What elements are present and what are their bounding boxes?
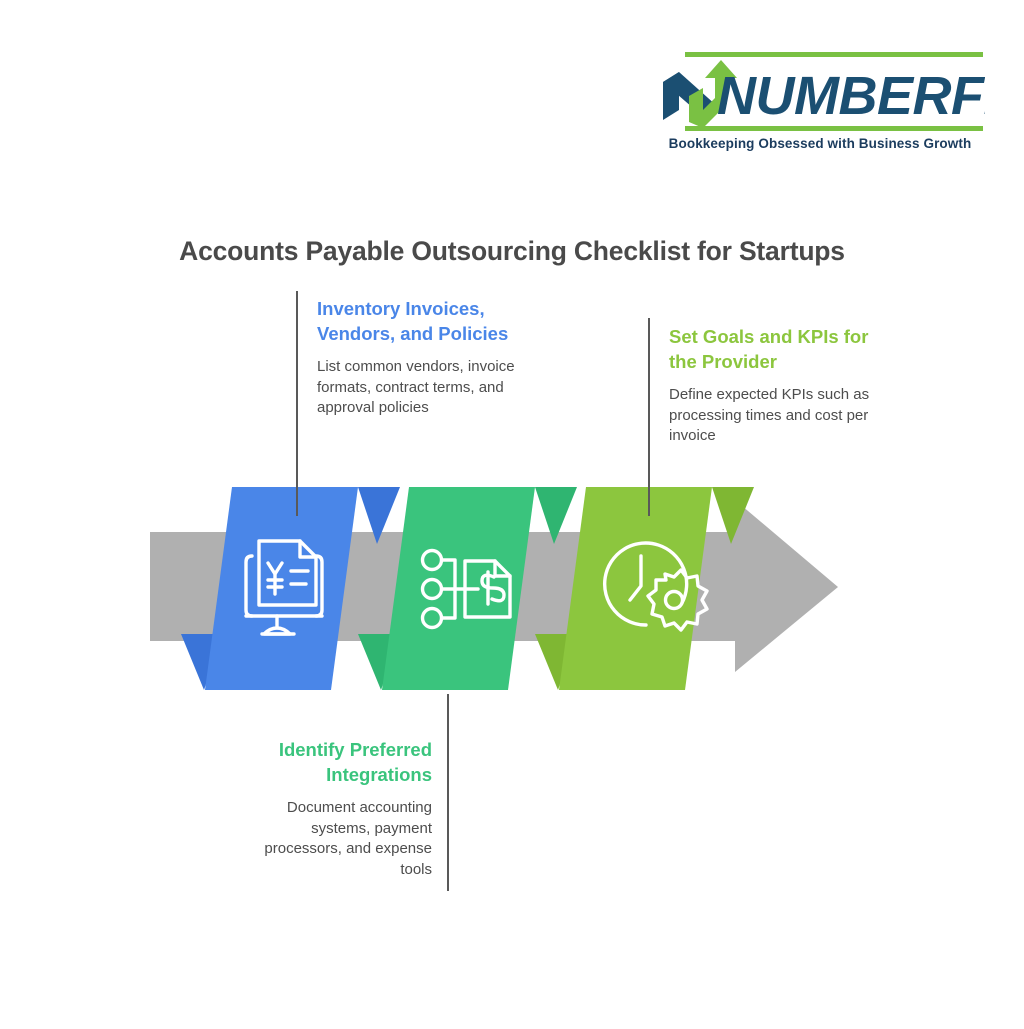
callout-step-3-heading: Set Goals and KPIs for the Provider	[669, 324, 875, 374]
callout-step-2-heading: Identify Preferred Integrations	[240, 737, 432, 787]
callout-step-3-body: Define expected KPIs such as processing …	[669, 385, 875, 447]
callout-step-1: Inventory Invoices, Vendors, and Policie…	[317, 296, 532, 419]
connector-line-step-1	[296, 291, 298, 516]
infographic-canvas: NUMBERFIED Bookkeeping Obsessed with Bus…	[0, 0, 1024, 1024]
connector-line-step-3	[648, 318, 650, 516]
callout-step-2-body: Document accounting systems, payment pro…	[240, 798, 432, 880]
callout-step-1-body: List common vendors, invoice formats, co…	[317, 357, 532, 419]
callout-step-2: Identify Preferred Integrations Document…	[240, 737, 432, 880]
step-3-banner	[559, 487, 712, 690]
callout-step-1-heading: Inventory Invoices, Vendors, and Policie…	[317, 296, 532, 346]
callout-step-3: Set Goals and KPIs for the Provider Defi…	[669, 324, 875, 447]
connector-line-step-2	[447, 694, 449, 891]
diagram-svg	[0, 0, 1024, 1024]
process-diagram: Inventory Invoices, Vendors, and Policie…	[0, 0, 1024, 1024]
